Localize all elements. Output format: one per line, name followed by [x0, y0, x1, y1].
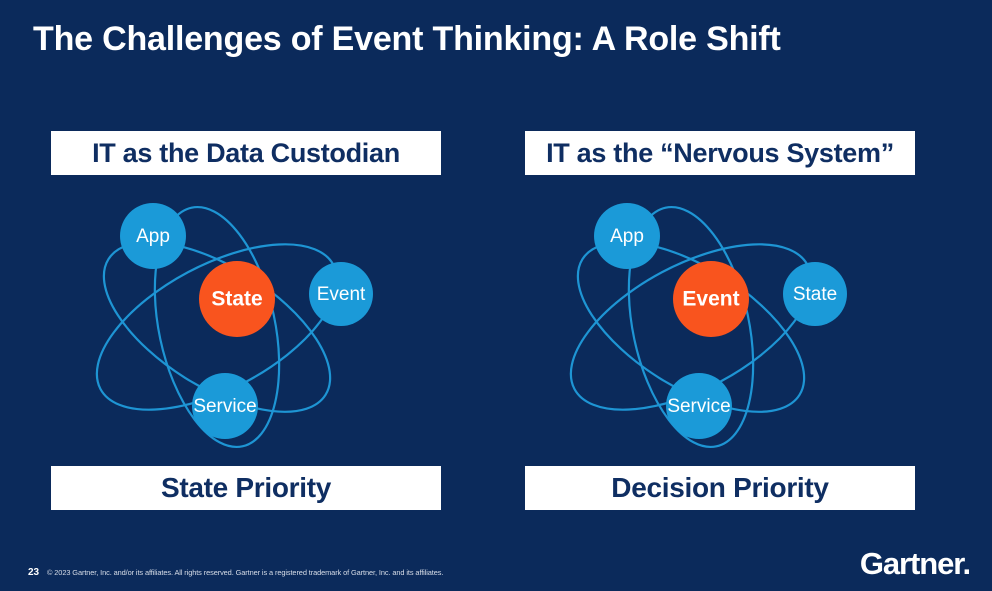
- node-label-app: App: [610, 226, 644, 247]
- node-center-right: Event: [673, 261, 749, 337]
- slide-canvas: The Challenges of Event Thinking: A Role…: [0, 0, 992, 591]
- node-label-center: State: [211, 288, 262, 311]
- node-label-right: Event: [317, 284, 366, 305]
- node-label-center: Event: [682, 288, 739, 311]
- footer-divider: [0, 556, 992, 557]
- page-title: The Challenges of Event Thinking: A Role…: [33, 18, 963, 60]
- node-app-left: App: [120, 203, 186, 269]
- panel-left-footer-label: State Priority: [161, 473, 331, 503]
- gartner-logo-mark: .: [962, 546, 970, 581]
- copyright-notice: © 2023 Gartner, Inc. and/or its affiliat…: [47, 567, 443, 579]
- node-right-left-panel: Event: [309, 262, 373, 326]
- node-label-right: State: [793, 284, 837, 305]
- gartner-logo-text: Gartner: [860, 546, 963, 581]
- node-service-left: Service: [192, 373, 258, 439]
- panel-right-footer-label: Decision Priority: [611, 473, 828, 503]
- node-service-right: Service: [666, 373, 732, 439]
- page-number: 23: [28, 566, 39, 579]
- atom-diagram-left: App Event Service State: [90, 188, 410, 463]
- node-label-service: Service: [193, 396, 256, 417]
- gartner-logo: Gartner.: [860, 547, 970, 581]
- panel-right-footer-box: Decision Priority: [525, 466, 915, 510]
- panel-left-footer-box: State Priority: [51, 466, 441, 510]
- node-app-right: App: [594, 203, 660, 269]
- atom-diagram-right: App State Service Event: [564, 188, 884, 463]
- node-label-service: Service: [667, 396, 730, 417]
- panel-right-header-label: IT as the “Nervous System”: [546, 138, 894, 168]
- node-center-left: State: [199, 261, 275, 337]
- panel-left-header-label: IT as the Data Custodian: [92, 138, 400, 168]
- panel-right: IT as the “Nervous System” App State: [516, 120, 946, 530]
- panel-left-header-box: IT as the Data Custodian: [51, 131, 441, 175]
- panel-left: IT as the Data Custodian App Event: [42, 120, 472, 530]
- panel-right-header-box: IT as the “Nervous System”: [525, 131, 915, 175]
- node-label-app: App: [136, 226, 170, 247]
- node-right-right-panel: State: [783, 262, 847, 326]
